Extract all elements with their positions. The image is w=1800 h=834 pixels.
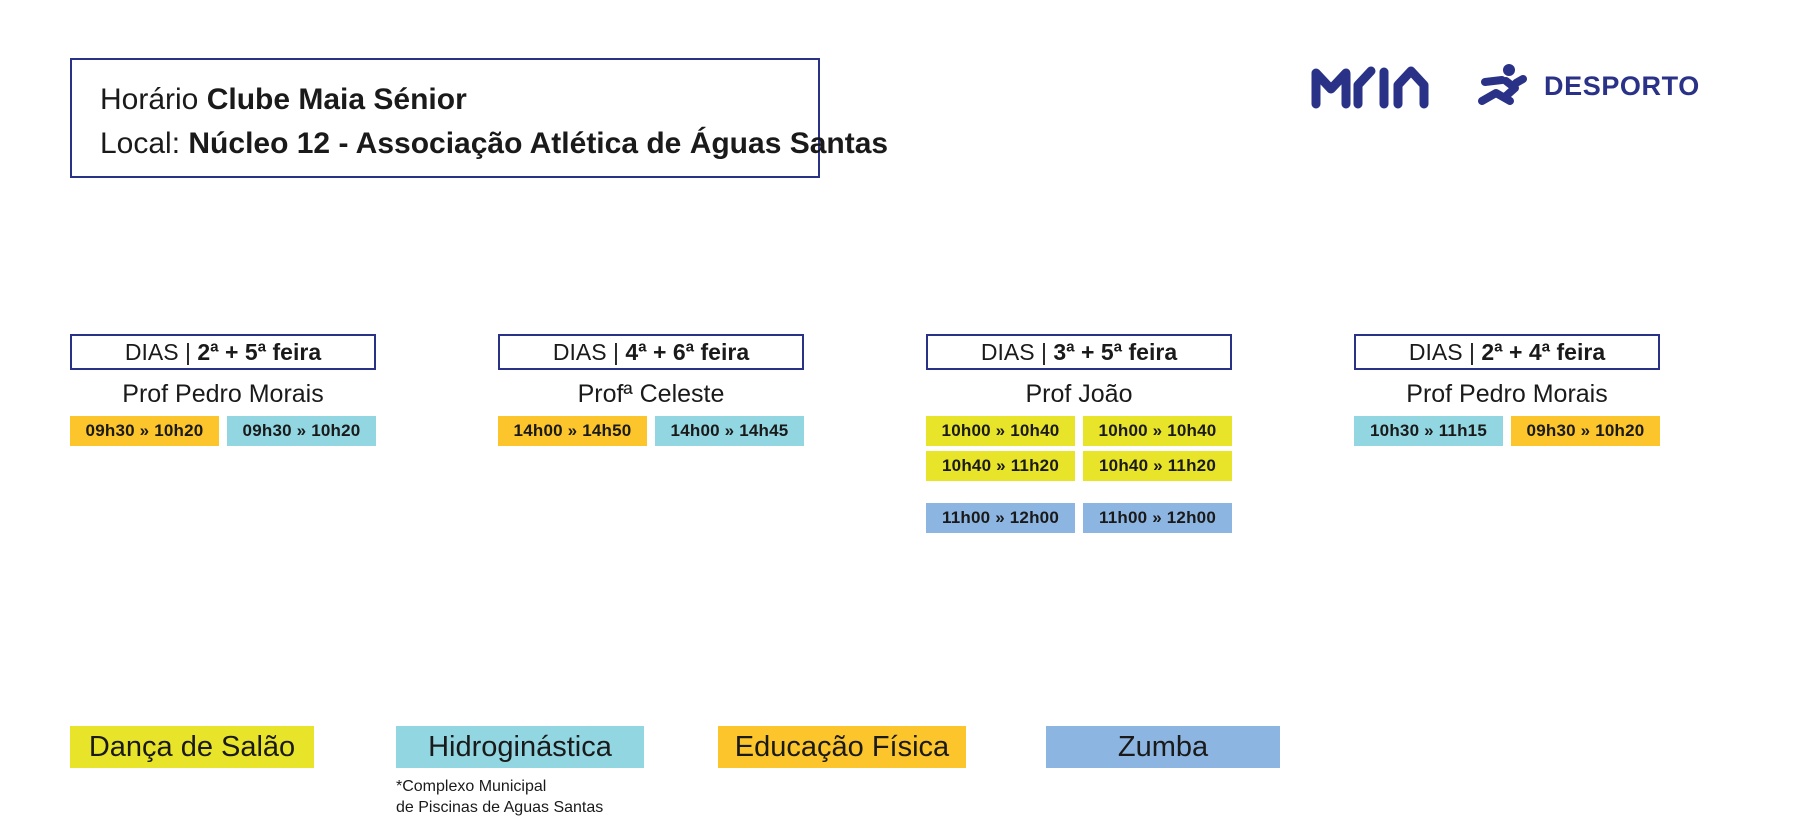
running-figure-icon	[1476, 63, 1528, 109]
title-line-local: Local: Núcleo 12 - Associação Atlética d…	[100, 122, 818, 166]
days-label: DIAS |	[981, 339, 1053, 365]
time-slot-chip[interactable]: 10h30 » 11h15	[1354, 416, 1503, 446]
schedule-title-box: Horário Clube Maia Sénior Local: Núcleo …	[70, 58, 820, 178]
title-local-prefix: Local:	[100, 127, 188, 160]
legend-swatch: Zumba	[1046, 726, 1280, 768]
legend-swatch: Dança de Salão	[70, 726, 314, 768]
teacher-name: Profª Celeste	[498, 374, 804, 414]
time-slot-row: 14h00 » 14h5014h00 » 14h45	[498, 416, 804, 446]
time-slot-row: 10h40 » 11h2010h40 » 11h20	[926, 451, 1232, 481]
legend-swatch: Educação Física	[718, 726, 966, 768]
days-value: 3ª + 5ª feira	[1053, 339, 1177, 365]
schedule-column-2: DIAS | 4ª + 6ª feiraProfª Celeste14h00 »…	[498, 334, 804, 451]
time-slot-chip[interactable]: 09h30 » 10h20	[227, 416, 376, 446]
time-slot-rows: 14h00 » 14h5014h00 » 14h45	[498, 416, 804, 446]
title-line-horario: Horário Clube Maia Sénior	[100, 78, 818, 122]
column-days-header: DIAS | 2ª + 5ª feira	[70, 334, 376, 370]
days-label: DIAS |	[1409, 339, 1481, 365]
time-slot-row: 11h00 » 12h0011h00 » 12h00	[926, 503, 1232, 533]
maia-wordmark-icon	[1310, 63, 1460, 109]
days-label: DIAS |	[125, 339, 197, 365]
time-slot-chip[interactable]: 11h00 » 12h00	[1083, 503, 1232, 533]
teacher-name: Prof Pedro Morais	[70, 374, 376, 414]
time-slot-row: 10h00 » 10h4010h00 » 10h40	[926, 416, 1232, 446]
time-slot-chip[interactable]: 10h00 » 10h40	[926, 416, 1075, 446]
schedule-column-1: DIAS | 2ª + 5ª feiraProf Pedro Morais09h…	[70, 334, 376, 451]
legend-footnote-line: *Complexo Municipal	[396, 776, 644, 797]
legend-item: Dança de Salão	[70, 726, 314, 768]
time-slot-rows: 10h30 » 11h1509h30 » 10h20	[1354, 416, 1660, 446]
column-days-header: DIAS | 3ª + 5ª feira	[926, 334, 1232, 370]
time-slot-rows: 10h00 » 10h4010h00 » 10h4010h40 » 11h201…	[926, 416, 1232, 533]
time-slot-chip[interactable]: 14h00 » 14h50	[498, 416, 647, 446]
column-days-header: DIAS | 2ª + 4ª feira	[1354, 334, 1660, 370]
teacher-name: Prof Pedro Morais	[1354, 374, 1660, 414]
activity-legend: Dança de SalãoHidroginástica*Complexo Mu…	[0, 726, 1800, 834]
legend-swatch: Hidroginástica	[396, 726, 644, 768]
days-label: DIAS |	[553, 339, 625, 365]
title-horario-value: Clube Maia Sénior	[207, 83, 467, 116]
title-local-value: Núcleo 12 - Associação Atlética de Águas…	[188, 127, 888, 160]
time-slot-row: 10h30 » 11h1509h30 » 10h20	[1354, 416, 1660, 446]
schedule-column-4: DIAS | 2ª + 4ª feiraProf Pedro Morais10h…	[1354, 334, 1660, 451]
title-horario-prefix: Horário	[100, 83, 207, 116]
legend-footnote: *Complexo Municipalde Piscinas de Aguas …	[396, 776, 644, 818]
days-value: 2ª + 5ª feira	[197, 339, 321, 365]
desporto-label: DESPORTO	[1544, 73, 1700, 100]
legend-item: Educação Física	[718, 726, 966, 768]
legend-footnote-line: de Piscinas de Aguas Santas	[396, 797, 644, 818]
time-slot-chip[interactable]: 14h00 » 14h45	[655, 416, 804, 446]
schedule-column-3: DIAS | 3ª + 5ª feiraProf João10h00 » 10h…	[926, 334, 1232, 538]
legend-item: Hidroginástica*Complexo Municipalde Pisc…	[396, 726, 644, 818]
teacher-name: Prof João	[926, 374, 1232, 414]
time-slot-chip[interactable]: 10h00 » 10h40	[1083, 416, 1232, 446]
time-slot-rows: 09h30 » 10h2009h30 » 10h20	[70, 416, 376, 446]
time-slot-chip[interactable]: 09h30 » 10h20	[70, 416, 219, 446]
time-slot-chip[interactable]: 09h30 » 10h20	[1511, 416, 1660, 446]
time-slot-chip[interactable]: 10h40 » 11h20	[1083, 451, 1232, 481]
days-value: 2ª + 4ª feira	[1481, 339, 1605, 365]
column-days-header: DIAS | 4ª + 6ª feira	[498, 334, 804, 370]
time-slot-chip[interactable]: 11h00 » 12h00	[926, 503, 1075, 533]
legend-item: Zumba	[1046, 726, 1280, 768]
maia-desporto-logo: DESPORTO	[1310, 58, 1700, 114]
time-slot-row: 09h30 » 10h2009h30 » 10h20	[70, 416, 376, 446]
time-slot-chip[interactable]: 10h40 » 11h20	[926, 451, 1075, 481]
days-value: 4ª + 6ª feira	[625, 339, 749, 365]
